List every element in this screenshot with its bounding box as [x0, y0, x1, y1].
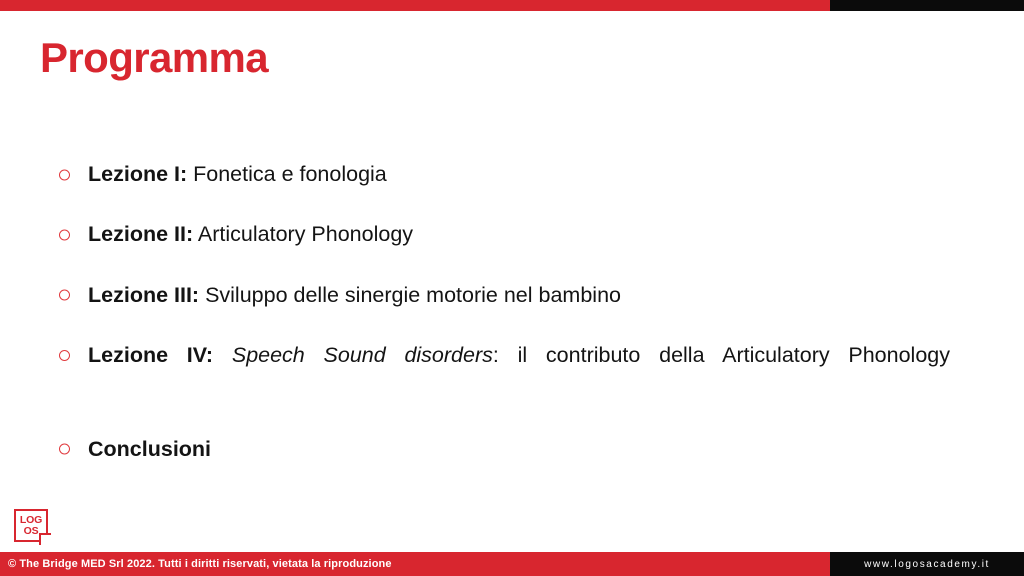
- top-accent-bar-black: [830, 0, 1024, 11]
- logos-brand-logo: LOG OS: [14, 509, 48, 542]
- logo-line-2: OS: [24, 526, 39, 537]
- list-item: Lezione III: Sviluppo delle sinergie mot…: [56, 279, 936, 312]
- list-item-text: Lezione III: Sviluppo delle sinergie mot…: [88, 279, 936, 312]
- footer-bar: © The Bridge MED Srl 2022. Tutti i dirit…: [0, 552, 1024, 576]
- bullet-circle-icon: [59, 229, 70, 240]
- agenda-list: Lezione I: Fonetica e fonologia Lezione …: [56, 158, 936, 466]
- list-item-text: Lezione I: Fonetica e fonologia: [88, 158, 936, 191]
- top-accent-bar-red: [0, 0, 830, 11]
- footer-website-text: www.logosacademy.it: [864, 559, 990, 570]
- list-item: Lezione II: Articulatory Phonology: [56, 218, 936, 251]
- top-accent-bar: [0, 0, 1024, 11]
- bullet-circle-icon: [59, 290, 70, 301]
- footer-copyright-area: © The Bridge MED Srl 2022. Tutti i dirit…: [0, 552, 830, 576]
- list-item: Conclusioni: [56, 433, 936, 466]
- bullet-circle-icon: [59, 169, 70, 180]
- list-item-text: Lezione II: Articulatory Phonology: [88, 218, 936, 251]
- logo-corner-notch: [39, 533, 51, 545]
- list-item-text: Lezione IV: Speech Sound disorders: il c…: [88, 339, 950, 406]
- list-item-lead: Lezione IV:: [88, 343, 213, 367]
- list-item-rest: Fonetica e fonologia: [187, 162, 387, 186]
- list-item-rest: : il contributo della Articulatory Phono…: [493, 343, 950, 367]
- list-item-italic: Speech Sound disorders: [213, 343, 493, 367]
- logo-line-1: LOG: [20, 515, 42, 526]
- list-item-lead: Conclusioni: [88, 437, 211, 461]
- list-item-lead: Lezione III:: [88, 283, 199, 307]
- list-item-lead: Lezione I:: [88, 162, 187, 186]
- bullet-circle-icon: [59, 444, 70, 455]
- slide: Programma Lezione I: Fonetica e fonologi…: [0, 0, 1024, 576]
- list-item: Lezione I: Fonetica e fonologia: [56, 158, 936, 191]
- footer-copyright-text: © The Bridge MED Srl 2022. Tutti i dirit…: [8, 558, 392, 570]
- list-item-lead: Lezione II:: [88, 222, 193, 246]
- list-item: Lezione IV: Speech Sound disorders: il c…: [56, 339, 936, 406]
- page-title: Programma: [40, 36, 268, 80]
- footer-website-area: www.logosacademy.it: [830, 552, 1024, 576]
- list-item-text: Conclusioni: [88, 433, 936, 466]
- bullet-circle-icon: [59, 350, 70, 361]
- list-item-rest: Sviluppo delle sinergie motorie nel bamb…: [199, 283, 621, 307]
- list-item-rest: Articulatory Phonology: [193, 222, 413, 246]
